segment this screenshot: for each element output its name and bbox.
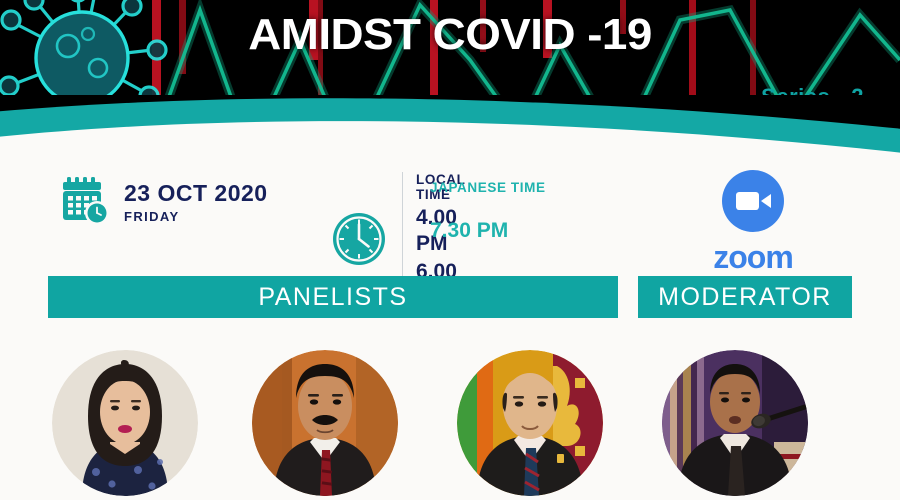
local-time-header: LOCAL TIME [416, 172, 417, 204]
panelists-banner: PANELISTS [48, 276, 618, 318]
panelists-label: PANELISTS [258, 283, 407, 312]
calendar-clock-icon [58, 174, 110, 231]
panelist-photo-2 [252, 350, 398, 496]
event-info-strip: 23 OCT 2020 FRIDAY [0, 160, 900, 270]
clock-icon [330, 210, 388, 273]
local-time-1: 4.00 PM [416, 205, 417, 258]
zoom-platform-block: zoom [688, 170, 818, 276]
japanese-time-header: JAPANESE TIME [430, 180, 546, 197]
zoom-camera-icon [722, 219, 784, 236]
event-date: 23 OCT 2020 [124, 181, 268, 206]
date-block: 23 OCT 2020 FRIDAY [58, 174, 268, 231]
moderator-photo [662, 350, 808, 496]
hero-banner: AMIDST COVID -19 Series - 2 [0, 0, 900, 160]
moderator-label: MODERATOR [658, 283, 832, 312]
panelist-photo-1 [52, 350, 198, 496]
zoom-wordmark: zoom [688, 239, 818, 276]
event-weekday: FRIDAY [124, 209, 268, 224]
page-title: AMIDST COVID -19 [0, 10, 900, 60]
teal-wave-divider [0, 95, 900, 160]
japanese-time-1: 7.30 PM [430, 218, 546, 244]
panelist-photo-3 [457, 350, 603, 496]
moderator-banner: MODERATOR [638, 276, 852, 318]
poster-root: AMIDST COVID -19 Series - 2 [0, 0, 900, 500]
